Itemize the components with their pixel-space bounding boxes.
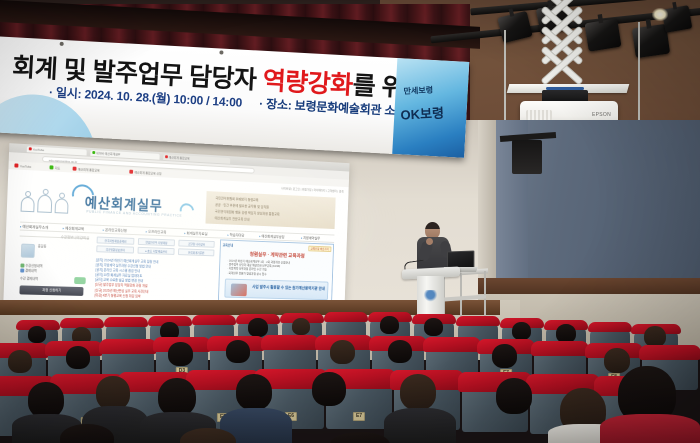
site-utility-nav[interactable]: 사이트맵 | 로그인 | 회원가입 | 마이페이지 | 고객센터 | 검색 — [281, 186, 343, 193]
cube-icon — [231, 283, 247, 296]
laptop-screen — [447, 250, 474, 268]
panel-line: · 회계실무 전문가 양성과정 상시 접수 — [227, 271, 290, 277]
banner-pin — [219, 50, 223, 54]
nav-item[interactable]: 예산회계교육 — [63, 226, 85, 232]
audience-seating: D3 F7 F8 D2 E5 E6 E7 — [0, 296, 700, 443]
sidebar-caption: 수강 결제내역 — [20, 275, 38, 280]
audience-head — [96, 376, 130, 410]
sidebar-link[interactable]: 결제내역 — [20, 269, 42, 275]
partner-logo[interactable]: 국가법령정보센터 — [96, 245, 134, 253]
site-logo-subtitle: PUBLIC FINANCE AND ACCOUNTING PRACTICE — [86, 210, 182, 218]
partner-logo[interactable]: 행정안전부 지방재정 — [138, 238, 175, 246]
partner-logo[interactable]: 한국회계기준원 — [178, 248, 214, 256]
hero-notice-banner: 국민권익위원회 부패방지 청렴교육 공공 · 민간 부문에 필요한 공무원 및 … — [205, 191, 335, 229]
auditorium-photo: EPSON YouTube 네이버 예산회계실무 예산회계 통합교육 — [0, 0, 700, 443]
tab-label: 예산회계 통합교육 — [169, 155, 190, 160]
nav-item[interactable]: 회계실무자료실 — [184, 231, 207, 237]
promo-banner-1-text: 사업 발주시 활용할 수 있는 원가계산용역기관 안내 — [252, 284, 325, 292]
bookmark-item[interactable]: YouTube — [14, 163, 31, 168]
people-icon — [21, 188, 74, 214]
sidebar-links: 수강신청내역 결제내역 — [20, 263, 42, 274]
support-rod — [504, 30, 506, 128]
audience-head — [556, 324, 576, 343]
scissor-mechanism — [536, 0, 592, 86]
audience-head — [380, 316, 399, 334]
course-apply-button[interactable]: 과정 신청하기 — [19, 285, 83, 296]
audience-head — [330, 432, 390, 443]
hero-notice-line: 예산회계실무 전문교육 안내 — [215, 215, 250, 221]
nav-item[interactable]: 온라인교육신청 — [103, 228, 127, 234]
audience-head — [424, 318, 443, 336]
nav-item[interactable]: 지방계약실무 — [301, 236, 320, 241]
sidebar-header-label: 수강정보 — [61, 235, 74, 240]
nav-item[interactable]: 오프라인교육 — [146, 230, 167, 236]
audience-head — [512, 322, 531, 340]
audience-head — [66, 346, 90, 369]
audience-head — [312, 372, 346, 406]
partner-logo-row: 한국지방재정공제회 행정안전부 지방재정 조달청 나라장터 국가법령정보센터 e… — [96, 237, 215, 259]
city-brand-main: OK보령 — [400, 102, 444, 123]
panel-lines: · 2024년 하반기 예산회계실무 1회 · 2회 과정개설 신청안내 · 발… — [227, 259, 290, 277]
panel-header: 교육안내 — [223, 242, 234, 247]
audience-shoulders — [600, 414, 700, 443]
audience-head — [158, 378, 196, 416]
panel-badge[interactable]: 교육신청 바로가기 — [308, 246, 332, 252]
audience-head — [496, 378, 532, 414]
status-badge — [74, 277, 86, 284]
audience-head — [644, 326, 666, 347]
tab-label: YouTube — [33, 147, 45, 152]
audience-head — [28, 382, 64, 418]
audience-head — [292, 318, 310, 335]
partner-logo[interactable]: 한국지방재정공제회 — [97, 237, 135, 245]
tab-label: 네이버 예산회계실무 — [96, 151, 120, 156]
city-brand-top: 만세보령 — [403, 85, 433, 97]
presenter-hand — [426, 238, 433, 245]
audience-head — [168, 342, 193, 366]
audience-shoulders — [384, 408, 456, 443]
support-rod — [638, 22, 640, 130]
website-content: 사이트맵 | 로그인 | 회원가입 | 마이페이지 | 고객센터 | 검색 예산… — [3, 169, 349, 316]
audience-head — [388, 340, 412, 363]
nav-item[interactable]: 학습자마당 — [227, 233, 244, 238]
notice-list: [공지] 2024년 하반기 예산회계실무 교육 일정 안내 [공지] 지방계약… — [95, 258, 214, 301]
user-name: 홍길동 — [38, 244, 47, 249]
audience-head — [248, 318, 268, 337]
audience-head — [400, 374, 436, 410]
audience-head — [236, 374, 272, 410]
projector-brand-label: EPSON — [592, 112, 611, 118]
audience-head — [8, 350, 32, 373]
city-brand-logo: 만세보령 OK보령 — [392, 58, 469, 158]
audience-head — [226, 340, 250, 363]
avatar — [21, 244, 35, 258]
hero-notice-line: 국민권익위원회 부패방지 청렴교육 — [215, 195, 258, 202]
banner-pin — [60, 42, 64, 46]
sidebar-header: 나의강의실 수강정보 — [20, 234, 90, 239]
partner-logo[interactable]: e-호조 지방재정관리 — [138, 247, 175, 255]
nav-item[interactable]: 예산회계실무소개 — [20, 225, 48, 231]
audience-head — [492, 344, 517, 368]
audience-head — [604, 348, 630, 373]
nav-item[interactable]: 예산회계실무상담 — [259, 234, 284, 240]
partner-logo[interactable]: 조달청 나라장터 — [178, 240, 214, 248]
sidebar-user-info: 홍길동 — [38, 244, 47, 249]
audience-head — [28, 326, 46, 343]
swoosh-icon — [177, 200, 197, 221]
audience-head — [330, 340, 355, 364]
wall-speaker — [512, 140, 542, 174]
sidebar-header-link[interactable]: 나의강의실 — [73, 236, 89, 242]
bookmark-item[interactable]: 지도 — [49, 165, 60, 170]
seat-label: E7 — [353, 412, 365, 421]
